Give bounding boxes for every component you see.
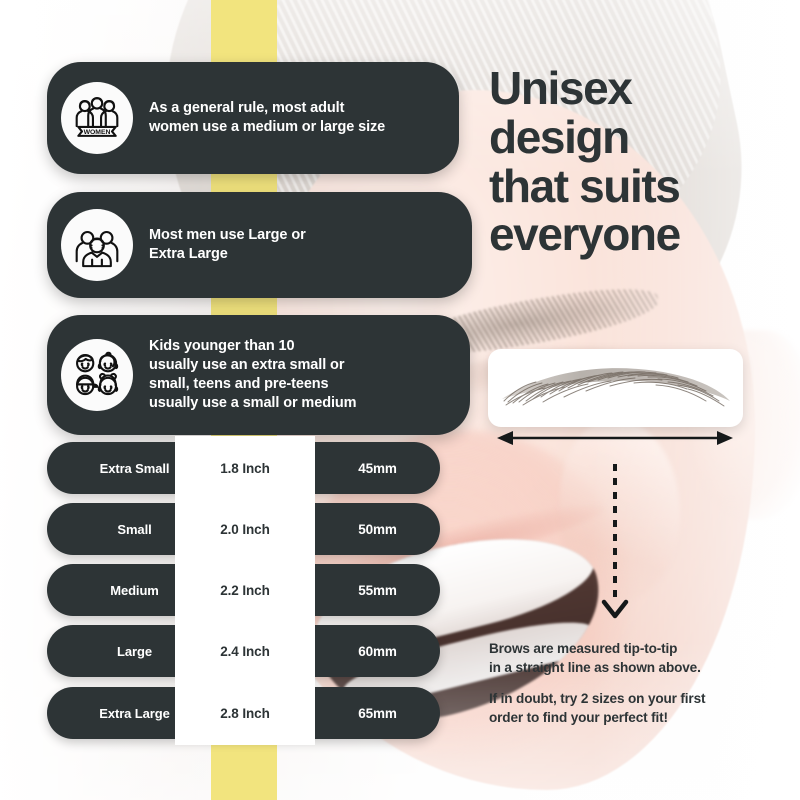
size-mm-cell: 55mm [315, 564, 440, 616]
size-row: Extra Small1.8 Inch45mm [47, 442, 440, 494]
size-inch-cell: 2.2 Inch [175, 558, 315, 622]
size-mm-cell: 65mm [315, 687, 440, 739]
size-row: Medium2.2 Inch55mm [47, 564, 440, 616]
size-chart-table: Extra Small1.8 Inch45mmSmall2.0 Inch50mm… [0, 0, 800, 800]
size-inch-cell: 2.8 Inch [175, 681, 315, 745]
size-inch-cell: 2.0 Inch [175, 497, 315, 561]
size-inch-cell: 2.4 Inch [175, 619, 315, 683]
size-mm-cell: 50mm [315, 503, 440, 555]
size-row: Large2.4 Inch60mm [47, 625, 440, 677]
size-row: Extra Large2.8 Inch65mm [47, 687, 440, 739]
size-inch-cell: 1.8 Inch [175, 436, 315, 500]
size-row: Small2.0 Inch50mm [47, 503, 440, 555]
size-mm-cell: 45mm [315, 442, 440, 494]
size-mm-cell: 60mm [315, 625, 440, 677]
